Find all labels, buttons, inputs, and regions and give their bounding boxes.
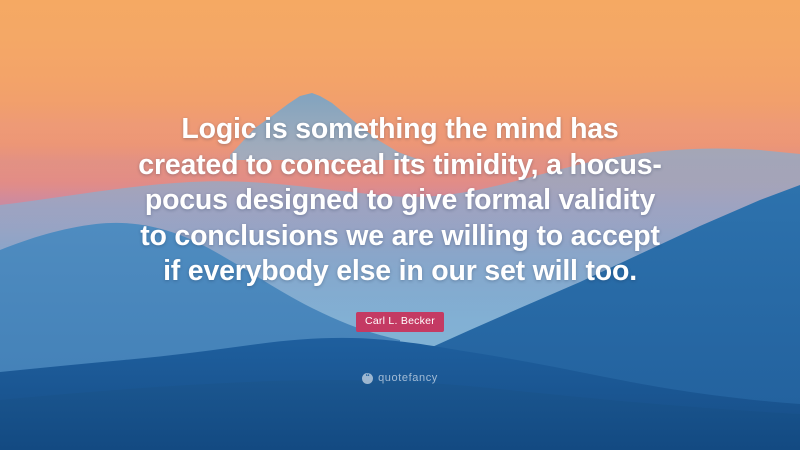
quote-mark-icon: “: [362, 373, 373, 384]
quote-line: if everybody else in our set will too.: [120, 254, 680, 290]
brand-name: quotefancy: [378, 372, 438, 384]
quote-line: created to conceal its timidity, a hocus…: [120, 148, 680, 184]
author-badge-container: Carl L. Becker: [0, 311, 800, 332]
watermark-container: “ quotefancy: [0, 366, 800, 384]
quote-line: to conclusions we are willing to accept: [120, 219, 680, 255]
quotefancy-watermark[interactable]: “ quotefancy: [362, 372, 438, 384]
author-name-badge[interactable]: Carl L. Becker: [356, 312, 444, 332]
quote-card: Logic is something the mind has created …: [0, 0, 800, 450]
quote-line: pocus designed to give formal validity: [120, 183, 680, 219]
quote-text: Logic is something the mind has created …: [120, 112, 680, 290]
quote-line: Logic is something the mind has: [120, 112, 680, 148]
